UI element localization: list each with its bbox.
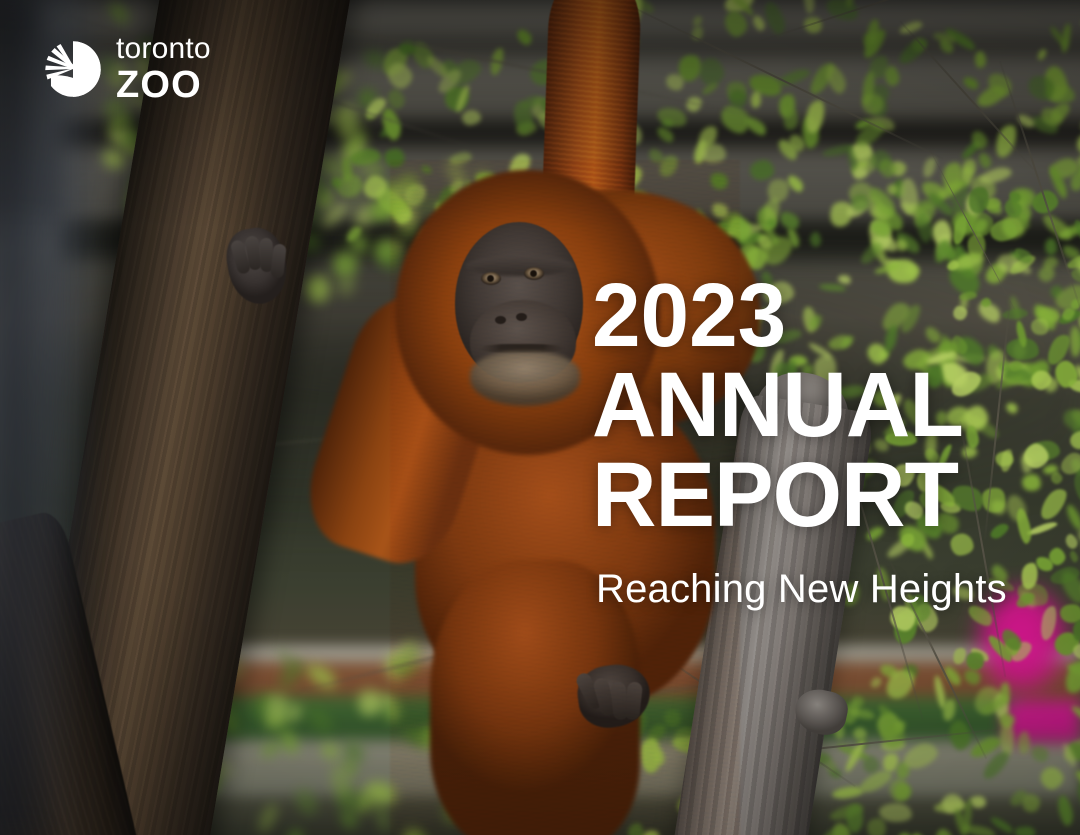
orangutan-nostril-right — [516, 313, 527, 321]
orangutan-nostril-left — [495, 316, 506, 324]
orangutan-pupil-right — [530, 270, 537, 277]
logo-word-toronto: toronto — [116, 34, 211, 64]
cover-title-block: 2023 ANNUAL REPORT Reaching New Heights — [592, 272, 1007, 612]
toronto-zoo-logo[interactable]: toronto ZOO — [44, 34, 211, 104]
logo-wordmark: toronto ZOO — [116, 34, 211, 104]
annual-report-cover: toronto ZOO 2023 ANNUAL REPORT Reaching … — [0, 0, 1080, 835]
title-line-report: REPORT — [592, 450, 994, 540]
orangutan-beard — [470, 352, 580, 406]
title-line-annual: ANNUAL — [592, 360, 994, 450]
logo-word-zoo: ZOO — [116, 66, 211, 104]
toronto-zoo-leaf-mark — [44, 40, 102, 98]
cover-subtitle: Reaching New Heights — [596, 567, 1007, 612]
orangutan-pupil-left — [487, 275, 494, 282]
title-year: 2023 — [592, 272, 994, 360]
orangutan-brow — [466, 256, 574, 276]
foreground-blur-post — [0, 0, 48, 835]
